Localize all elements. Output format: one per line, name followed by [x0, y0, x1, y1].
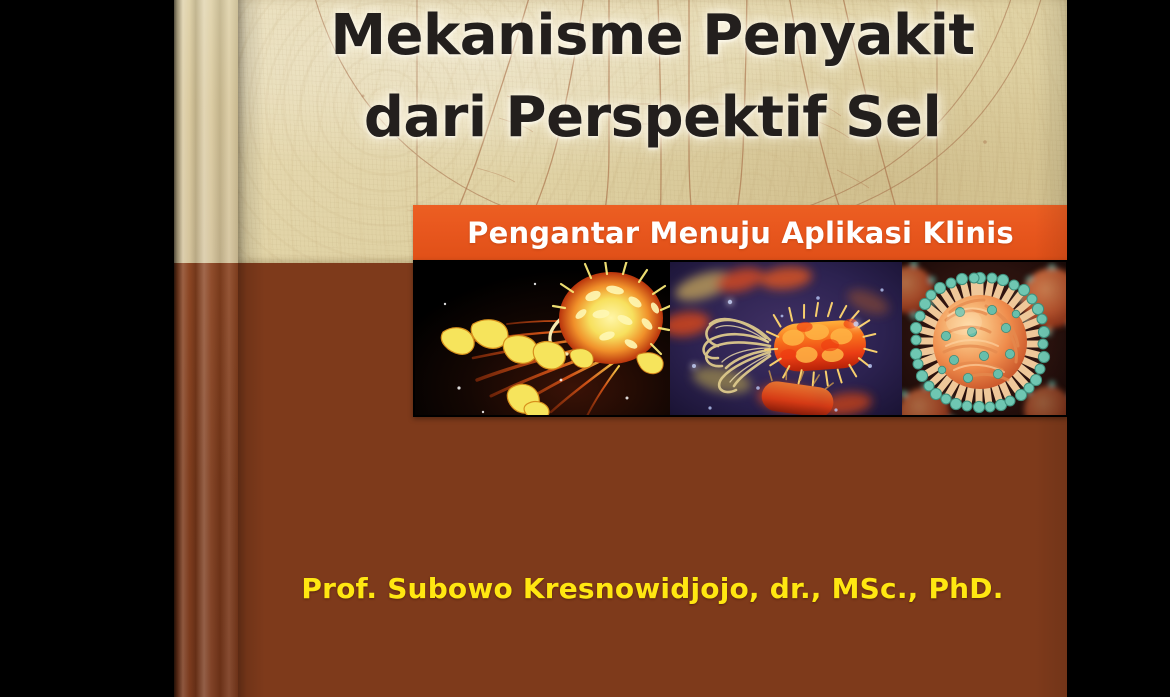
book-cover-image: Mekanisme Penyakit dari Perspektif Sel P…: [0, 0, 1170, 697]
title-line-1: Mekanisme Penyakit: [237, 0, 1068, 64]
cover-image-virus: [902, 262, 1066, 415]
right-crop-mask: [1067, 0, 1170, 697]
book-title: Mekanisme Penyakit dari Perspektif Sel: [237, 0, 1068, 146]
book-spine: [174, 0, 238, 697]
cover-image-macrophage: [415, 262, 670, 415]
coronavirus-particle-illustration-icon: [902, 262, 1066, 415]
spine-parchment-section: [174, 0, 238, 263]
spine-brown-section: [174, 263, 238, 697]
title-line-2: dari Perspektif Sel: [237, 64, 1068, 146]
macrophage-cell-micrograph-icon: [415, 262, 670, 415]
subtitle-banner-text: Pengantar Menuju Aplikasi Klinis: [467, 216, 1014, 250]
left-crop-mask: [0, 0, 174, 697]
cover-image-bacteria: [670, 262, 902, 415]
author-name: Prof. Subowo Kresnowidjojo, dr., MSc., P…: [237, 572, 1068, 605]
book-front-cover: Mekanisme Penyakit dari Perspektif Sel P…: [237, 0, 1068, 697]
flagellated-bacterium-illustration-icon: [670, 262, 902, 415]
cover-image-strip: [413, 260, 1068, 417]
book-object: Mekanisme Penyakit dari Perspektif Sel P…: [174, 0, 1068, 697]
subtitle-banner: Pengantar Menuju Aplikasi Klinis: [413, 205, 1068, 260]
